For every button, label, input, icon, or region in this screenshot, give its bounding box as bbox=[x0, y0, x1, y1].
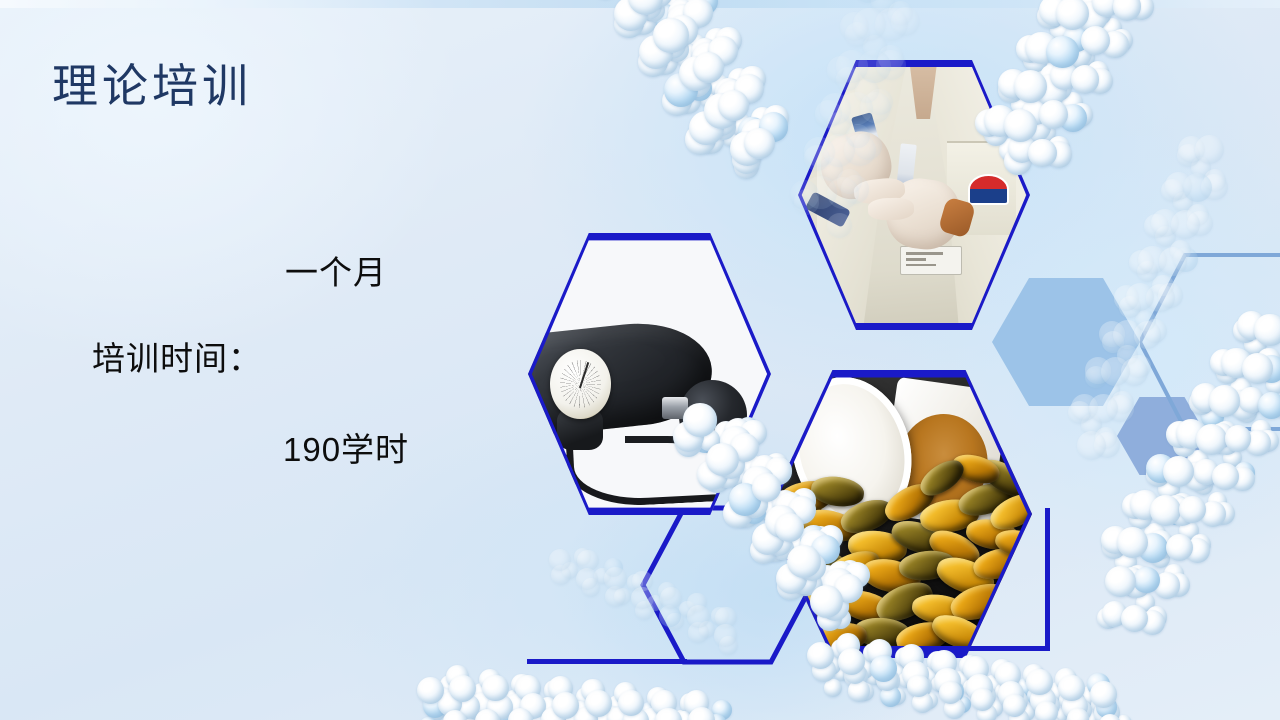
slide-canvas: 理论培训 一个月 培训时间： 190学时 bbox=[0, 0, 1280, 720]
page-title: 理论培训 bbox=[52, 50, 252, 116]
hexagon-thin-outline bbox=[1140, 252, 1280, 432]
duration-value: 一个月 bbox=[285, 246, 387, 294]
blood-pressure-monitor-photo bbox=[528, 233, 771, 515]
lab-technician-photo bbox=[798, 60, 1030, 330]
accent-line-under-pills bbox=[860, 646, 1050, 651]
softgel-capsules-photo bbox=[766, 370, 1032, 658]
top-highlight-band bbox=[0, 0, 1280, 8]
duration-label: 培训时间： bbox=[92, 332, 262, 380]
class-hours-value: 190学时 bbox=[283, 423, 409, 471]
accent-line-right-of-pills bbox=[1045, 508, 1050, 648]
accent-line-bottom-left bbox=[527, 659, 687, 664]
